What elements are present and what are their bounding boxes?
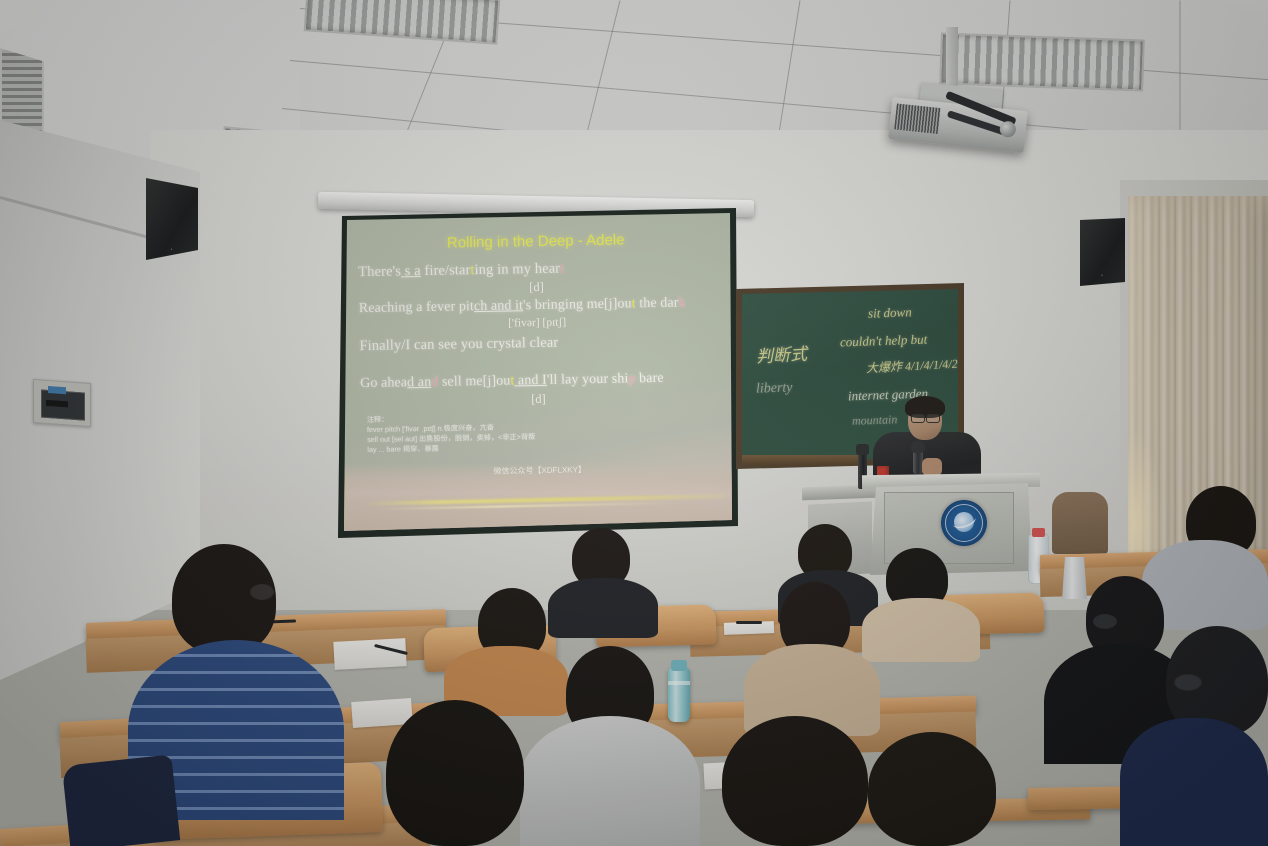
- desk-microphone-head: [856, 444, 869, 455]
- chalk-note: sit down: [868, 304, 912, 322]
- lyric-ipa-4: [d]: [344, 389, 732, 411]
- note-item: sell out [sel aut] 出售股份，脱销，卖掉，<非正>背叛: [367, 432, 535, 445]
- chalk-note: mountain: [852, 412, 898, 429]
- chalk-note: couldn't help but: [840, 331, 928, 350]
- chalk-note: 判断式: [755, 340, 807, 368]
- chalk-note: liberty: [756, 380, 793, 397]
- ceiling-light-fixture: [939, 32, 1145, 91]
- teacher-glasses: [911, 414, 925, 423]
- student-torso-beige-jacket: [862, 598, 980, 662]
- wooden-chair: [1052, 492, 1108, 554]
- student-glasses: [1093, 614, 1117, 629]
- slide-title: Rolling in the Deep - Adele: [344, 230, 730, 254]
- student-torso-front-right: [1120, 718, 1268, 846]
- panel-face: [41, 390, 85, 421]
- student-head-front-right2: [868, 732, 996, 846]
- microphone-head: [911, 441, 925, 453]
- bottle-cap: [1032, 528, 1045, 537]
- university-emblem: [941, 500, 987, 546]
- projector-vent-grille: [894, 103, 940, 133]
- panel-switch[interactable]: [46, 400, 68, 408]
- pen: [736, 621, 762, 624]
- slide-watermark: 微信公众号【XDFLXKY】: [346, 462, 732, 480]
- projector-lens: [999, 120, 1017, 138]
- wall-control-panel[interactable]: [33, 379, 91, 427]
- bottle-ring: [668, 681, 690, 685]
- classroom-photo: • • ▬ Rolling in the Deep - Adele The: [0, 0, 1268, 846]
- teal-water-bottle: [668, 668, 690, 722]
- student-head-front-center-right: [722, 716, 868, 846]
- student-torso-grey-hoodie: [520, 716, 700, 846]
- student-glasses: [1174, 674, 1202, 691]
- lyric-line-3: Finally/I can see you crystal clear: [359, 332, 723, 355]
- left-wall-speaker: •: [146, 178, 198, 260]
- student-head-front-center: [386, 700, 524, 846]
- bottle-cap: [671, 660, 687, 671]
- paper-cup-with-straw: [1062, 557, 1087, 599]
- right-wall-speaker: •: [1080, 218, 1125, 286]
- note-item: lay ... bare 揭穿、暴露: [367, 444, 439, 456]
- speaker-brand-label: •: [1101, 273, 1104, 279]
- chalk-note: 大爆炸 4/1/4/1/4/2: [866, 355, 958, 377]
- backpack: [62, 754, 180, 846]
- lyric-ipa-2: ['fivər] [pɪtʃ]: [344, 314, 731, 333]
- projector-ceiling-mount: [946, 27, 958, 93]
- student-glasses: [250, 584, 274, 600]
- notebook-paper: [333, 638, 406, 670]
- chalk-tray: [742, 455, 862, 465]
- projected-slide: Rolling in the Deep - Adele There's s a …: [344, 213, 732, 531]
- student-torso-back-center: [548, 578, 658, 638]
- panel-blue-sticker: [48, 386, 66, 394]
- speaker-brand-label: •: [171, 247, 174, 253]
- teacher-glasses: [926, 414, 940, 423]
